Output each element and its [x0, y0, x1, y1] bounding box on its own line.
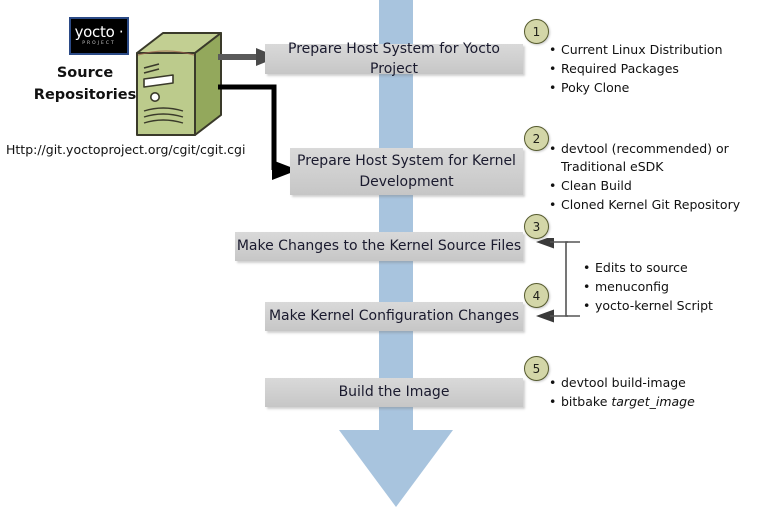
repository-url: Http://git.yoctoproject.org/cgit/cgit.cg… [6, 142, 245, 157]
process-box-step-5-label: Build the Image [339, 382, 450, 402]
bullet-item: devtool build-image [549, 374, 764, 392]
yocto-project-logo: yocto · PROJECT [69, 17, 129, 55]
step-marker-4: 4 [524, 283, 549, 308]
bullet-item: devtool (recommended) or Traditional eSD… [549, 140, 764, 176]
source-label-line1: Source [24, 62, 146, 84]
step-marker-5: 5 [524, 356, 549, 381]
source-repositories-label: Source Repositories [24, 62, 146, 107]
server-tower-icon [133, 31, 225, 139]
bullet-item: Cloned Kernel Git Repository [549, 196, 764, 214]
bullet-item: Required Packages [549, 60, 764, 78]
process-box-step-3[interactable]: Make Changes to the Kernel Source Files [235, 232, 523, 261]
bitbake-command: bitbake [561, 394, 611, 409]
step-marker-2-number: 2 [533, 132, 541, 146]
step-marker-3: 3 [524, 214, 549, 239]
process-box-step-2-label: Prepare Host System for Kernel Developme… [297, 151, 516, 192]
bitbake-target-arg: target_image [611, 394, 694, 409]
bullet-item: Edits to source [583, 259, 763, 277]
step-marker-3-number: 3 [533, 220, 541, 234]
bullet-item: menuconfig [583, 278, 763, 296]
process-box-step-1[interactable]: Prepare Host System for Yocto Project [265, 44, 523, 74]
logo-wordmark: yocto · [75, 25, 124, 40]
logo-subtext: PROJECT [82, 42, 115, 47]
bullet-item-bitbake: bitbake target_image [549, 393, 764, 411]
bullet-list-steps-3-4: Edits to source menuconfig yocto-kernel … [583, 259, 763, 316]
process-box-step-5[interactable]: Build the Image [265, 378, 523, 407]
bullet-list-step-1: Current Linux Distribution Required Pack… [549, 41, 764, 98]
bullet-list-step-2: devtool (recommended) or Traditional eSD… [549, 140, 764, 216]
bullet-list-step-5: devtool build-image bitbake target_image [549, 374, 764, 412]
step-marker-4-number: 4 [533, 289, 541, 303]
bullet-item: yocto-kernel Script [583, 297, 763, 315]
source-label-line2: Repositories [24, 84, 146, 106]
process-box-step-3-label: Make Changes to the Kernel Source Files [237, 236, 521, 256]
process-box-step-2[interactable]: Prepare Host System for Kernel Developme… [290, 148, 523, 195]
bullet-item: Clean Build [549, 177, 764, 195]
process-box-step-4-label: Make Kernel Configuration Changes [269, 306, 519, 326]
process-box-step-1-label: Prepare Host System for Yocto Project [265, 39, 523, 80]
workflow-arrowhead-icon [339, 430, 453, 507]
diagram-canvas: yocto · PROJECT Source Repositories Http… [0, 0, 769, 517]
process-box-step-4[interactable]: Make Kernel Configuration Changes [265, 302, 523, 331]
arrow-server-to-step2 [218, 82, 300, 182]
bracket-connector-steps-3-4 [522, 238, 582, 324]
bullet-item: Current Linux Distribution [549, 41, 764, 59]
step-marker-5-number: 5 [533, 362, 541, 376]
step-marker-1-number: 1 [533, 25, 541, 39]
bullet-item: Poky Clone [549, 79, 764, 97]
step-marker-1: 1 [524, 19, 549, 44]
step-marker-2: 2 [524, 126, 549, 151]
